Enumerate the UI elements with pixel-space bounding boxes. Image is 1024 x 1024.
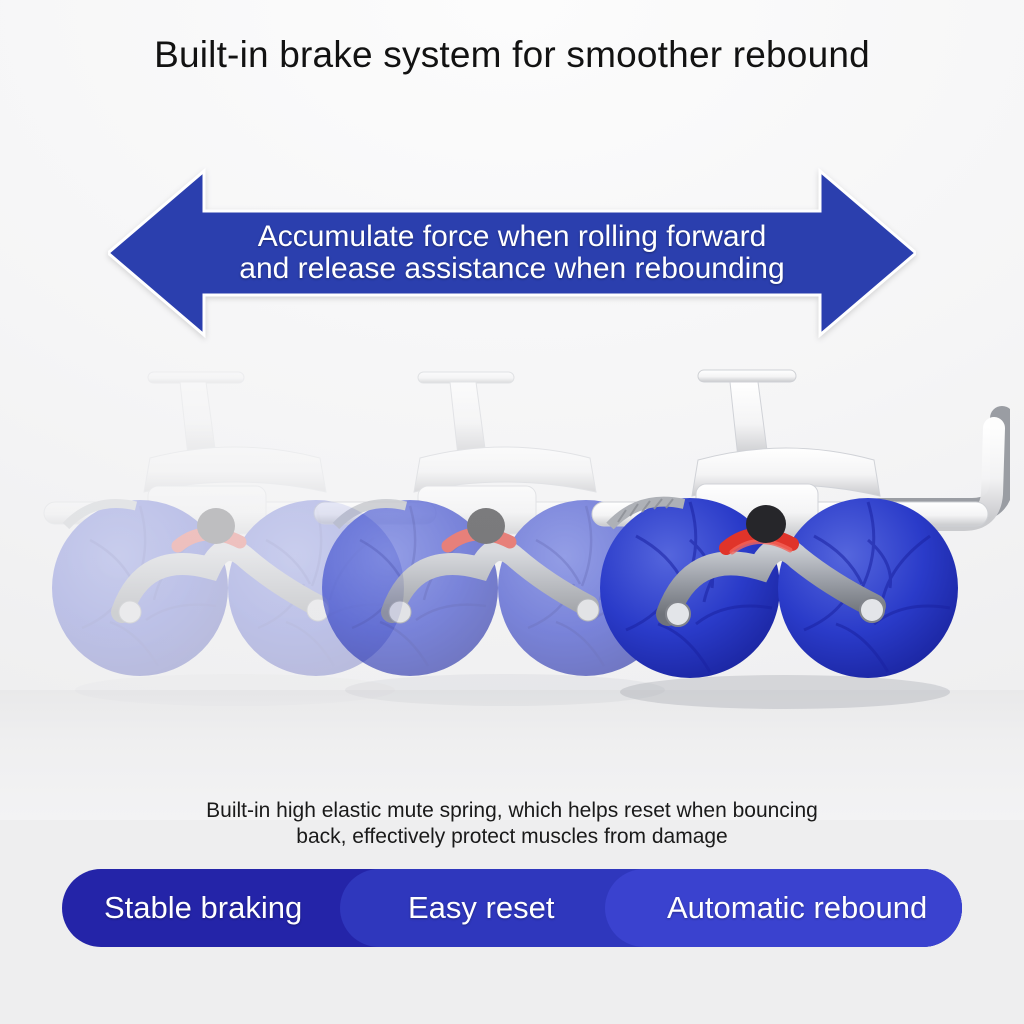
feature-pill-label: Easy reset [340, 890, 554, 926]
arrow-text-line1: Accumulate force when rolling forward [258, 220, 767, 253]
caption-line2: back, effectively protect muscles from d… [0, 824, 1024, 850]
product-feature-poster: Built-in brake system for smoother rebou… [0, 0, 1024, 1024]
caption-line1: Built-in high elastic mute spring, which… [206, 799, 818, 822]
product-scene [0, 360, 1024, 780]
feature-pill-label: Stable braking [62, 890, 302, 926]
feature-pill-row: Stable braking Easy reset Automatic rebo… [62, 869, 962, 947]
arrow-banner-text: Accumulate force when rolling forward an… [108, 221, 916, 285]
feature-caption: Built-in high elastic mute spring, which… [0, 798, 1024, 851]
feature-pill-automatic-rebound[interactable]: Automatic rebound [605, 869, 962, 947]
ab-roller-illustration [580, 360, 1010, 720]
feature-pill-label: Automatic rebound [605, 890, 927, 926]
page-title: Built-in brake system for smoother rebou… [0, 34, 1024, 76]
arrow-text-line2: and release assistance when rebounding [200, 253, 824, 285]
double-arrow-banner: Accumulate force when rolling forward an… [108, 165, 916, 341]
product-solid [580, 360, 1010, 720]
